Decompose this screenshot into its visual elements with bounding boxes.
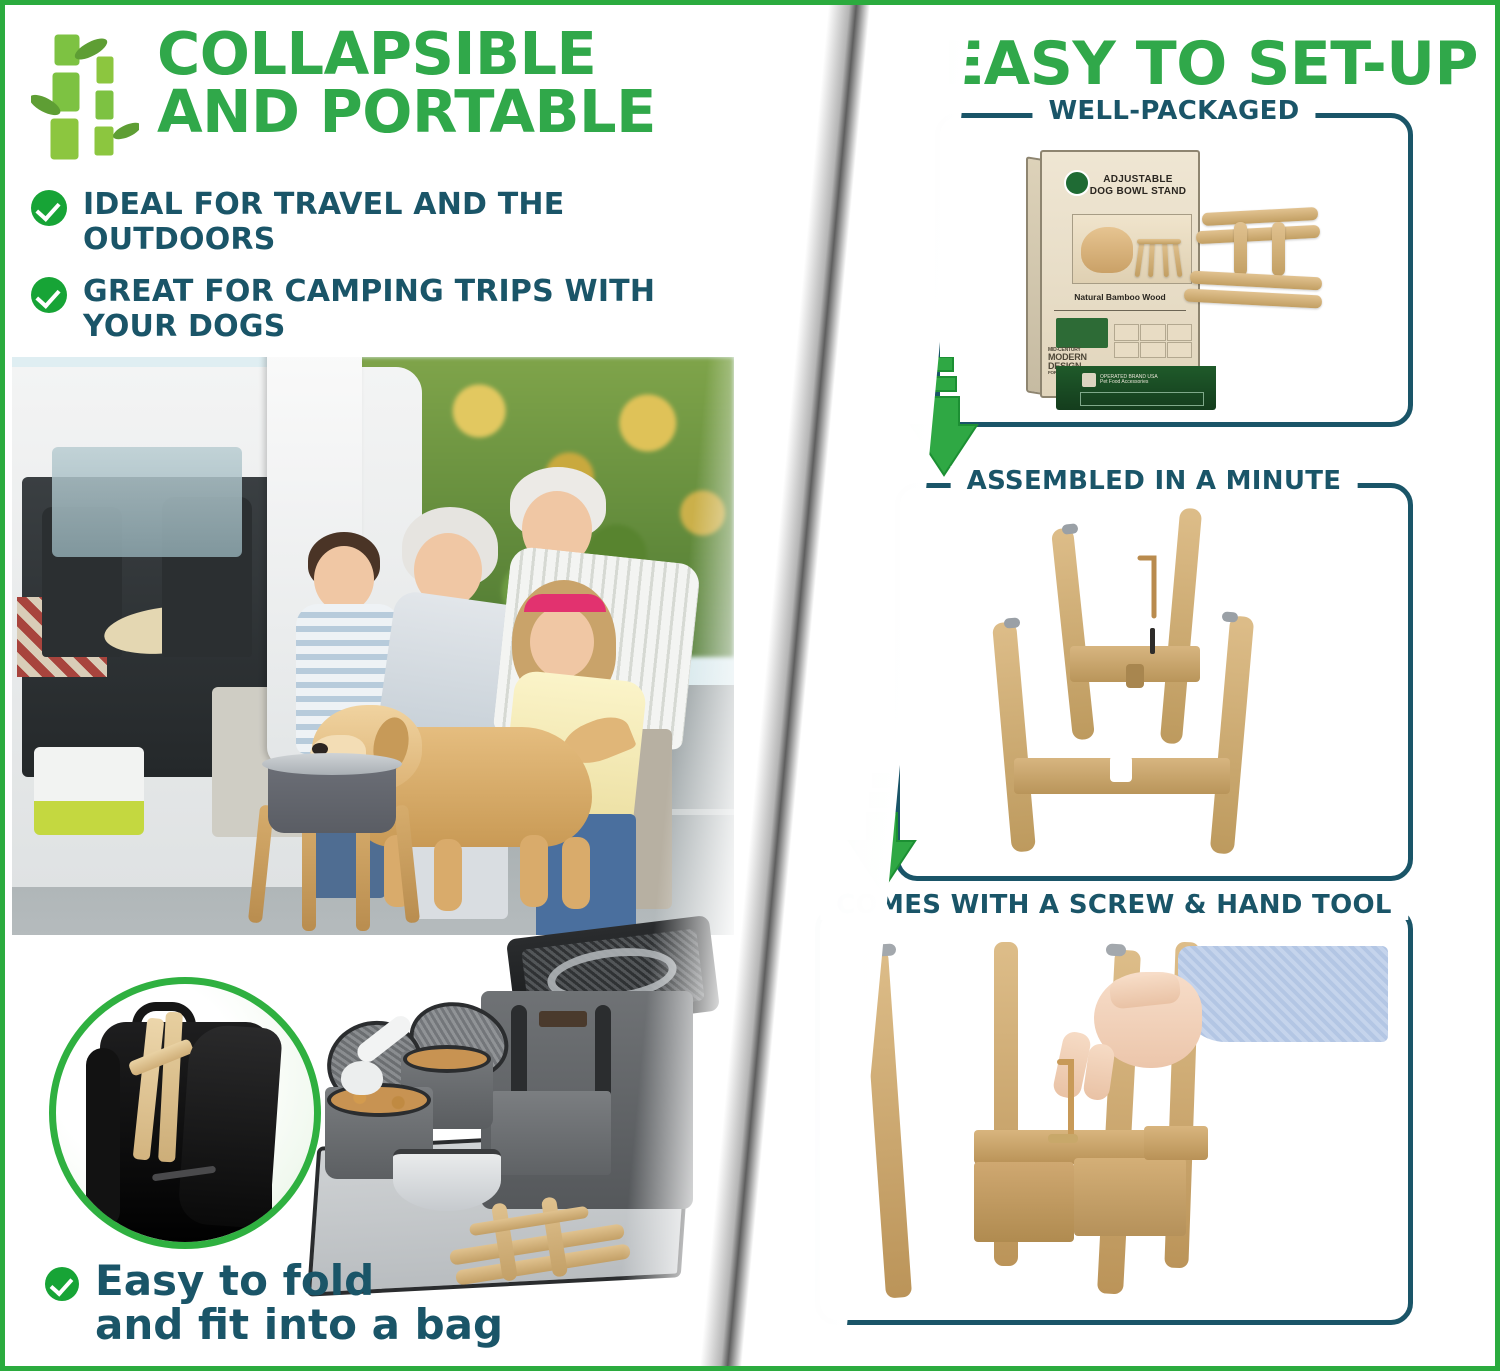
hex-key-icon [1136,552,1170,622]
box-subtitle: Natural Bamboo Wood [1050,292,1190,302]
right-panel: EASY TO SET-UP WELL-PACKAGED ADJUSTABLE … [777,5,1500,1366]
card-label: COMES WITH A SCREW & HAND TOOL [820,890,1408,920]
down-arrow-icon [845,773,919,895]
list-item: IDEAL FOR TRAVEL AND THE OUTDOORS [31,187,751,258]
product-box-photo: ADJUSTABLE DOG BOWL STAND ADJUSTABLE DOG… [1026,140,1208,408]
check-circle-icon [31,190,67,226]
check-circle-icon [31,277,67,313]
screw-icon [1048,1134,1078,1143]
screw-icon [1150,628,1155,654]
bullet-label: IDEAL FOR TRAVEL AND THE OUTDOORS [83,187,751,258]
box-band-line-2: Pet Food Accessories [1100,380,1158,386]
box-product-photo [1072,214,1192,284]
caption-line-2: and fit into a bag [95,1303,503,1347]
headline-block: COLLAPSIBLE AND PORTABLE [31,23,731,167]
headline-line-2: AND PORTABLE [157,83,656,141]
down-arrow-icon [907,357,981,479]
bamboo-icon [31,27,139,167]
list-item: GREAT FOR CAMPING TRIPS WITH YOUR DOGS [31,274,751,345]
bamboo-parts [1176,200,1316,320]
box-title-line-1: ADJUSTABLE [1103,174,1172,185]
bullet-label: GREAT FOR CAMPING TRIPS WITH YOUR DOGS [83,274,751,345]
card-label: ASSEMBLED IN A MINUTE [951,466,1358,496]
travel-bag-set-photo [305,905,725,1305]
folded-stand-photo [984,518,1314,854]
step-card-assembled: ASSEMBLED IN A MINUTE [895,483,1413,881]
backpack-photo [49,977,321,1249]
caption-line-1: Easy to fold [95,1259,503,1303]
fold-caption: Easy to fold and fit into a bag [45,1259,565,1347]
step-card-well-packaged: WELL-PACKAGED ADJUSTABLE DOG BOWL STAND … [935,113,1413,427]
card-label: WELL-PACKAGED [1032,96,1315,126]
hex-key-icon [1056,1054,1082,1146]
check-circle-icon [45,1267,79,1301]
product-infographic: COLLAPSIBLE AND PORTABLE IDEAL FOR TRAVE… [0,0,1500,1371]
box-spec-grid [1114,324,1192,358]
feature-bullet-list: IDEAL FOR TRAVEL AND THE OUTDOORS GREAT … [31,187,751,361]
family-with-dog-photo [12,357,734,935]
setup-title: EASY TO SET-UP [943,29,1478,99]
step-card-screw-hand-tool: COMES WITH A SCREW & HAND TOOL [815,907,1413,1325]
hand-with-hex-key-photo [848,936,1388,1304]
box-title: ADJUSTABLE DOG BOWL STAND [1086,174,1190,197]
caption-text: Easy to fold and fit into a bag [95,1259,503,1347]
page-title: COLLAPSIBLE AND PORTABLE [157,23,656,167]
box-title-line-2: DOG BOWL STAND [1090,186,1187,197]
box-bottom-band: OPERATED BRAND USA Pet Food Accessories [1056,366,1216,410]
left-panel: COLLAPSIBLE AND PORTABLE IDEAL FOR TRAVE… [5,5,777,1366]
